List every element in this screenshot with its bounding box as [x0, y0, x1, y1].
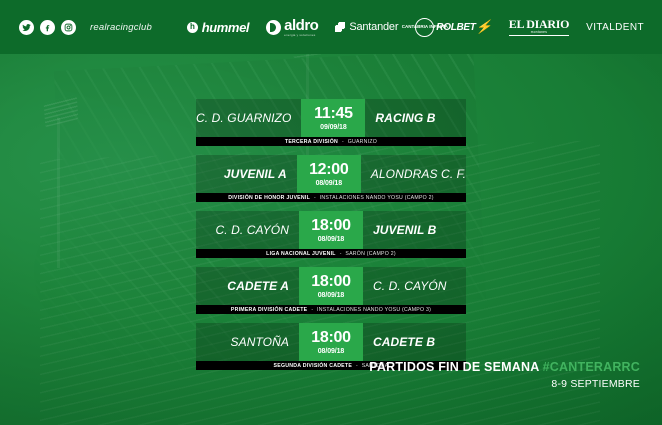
home-team-name: C. D. CAYÓN: [196, 211, 299, 249]
santander-flame-icon: [335, 22, 345, 32]
match-venue: INSTALACIONES NANDO YOSU (CAMPO 2): [320, 195, 434, 201]
instagram-icon[interactable]: [61, 20, 76, 35]
match-row: JUVENIL A 12:00 08/09/18 ALONDRAS C. F. …: [196, 155, 466, 202]
match-teams-row: JUVENIL A 12:00 08/09/18 ALONDRAS C. F.: [196, 155, 466, 193]
match-separator: -: [311, 307, 313, 313]
home-team-name: CADETE A: [196, 267, 299, 305]
sponsor-logo-vitaldent: VITALDENT: [586, 22, 644, 33]
twitter-icon[interactable]: [19, 20, 34, 35]
match-teams-row: C. D. CAYÓN 18:00 08/09/18 JUVENIL B: [196, 211, 466, 249]
match-teams-row: C. D. GUARNIZO 11:45 09/09/18 RACING B: [196, 99, 466, 137]
aldro-mark-icon: [266, 20, 281, 35]
match-date: 09/09/18: [320, 124, 346, 131]
match-competition: SEGUNDA DIVISIÓN CADETE: [274, 363, 352, 369]
sponsor-logo-aldro: aldro energia y soluciones: [266, 18, 318, 37]
sponsor-logo-el-diario: EL DIARIO montanes: [509, 18, 569, 37]
facebook-icon[interactable]: [40, 20, 55, 35]
match-separator: -: [356, 363, 358, 369]
match-teams-row: SANTOÑA 18:00 08/09/18 CADETE B: [196, 323, 466, 361]
match-date: 08/09/18: [318, 292, 344, 299]
sponsor-logos: h hummel aldro energia y soluciones Sant…: [187, 18, 644, 37]
match-time-block: 18:00 08/09/18: [299, 323, 363, 361]
away-team-name: RACING B: [365, 99, 466, 137]
match-separator: -: [340, 251, 342, 257]
footer-title: PARTIDOS FIN DE SEMANA: [369, 360, 539, 374]
match-info-strip: LIGA NACIONAL JUVENIL - SARÓN (CAMPO 2): [196, 249, 466, 258]
aldro-wordmark-label: aldro: [284, 18, 318, 33]
match-teams-row: CADETE A 18:00 08/09/18 C. D. CAYÓN: [196, 267, 466, 305]
match-competition: DIVISIÓN DE HONOR JUVENIL: [228, 195, 310, 201]
away-team-name: CADETE B: [363, 323, 466, 361]
sponsor-logo-cantabria-rolbet: CANTABRIA INFINITA ROLBET ⚡: [415, 18, 492, 37]
match-date: 08/09/18: [318, 348, 344, 355]
match-time-block: 18:00 08/09/18: [299, 267, 363, 305]
el-diario-tagline: montanes: [531, 31, 547, 34]
match-time-block: 12:00 08/09/18: [297, 155, 361, 193]
match-separator: -: [342, 139, 344, 145]
sponsor-header-bar: realracingclub h hummel aldro energia y …: [0, 0, 662, 54]
match-info-strip: DIVISIÓN DE HONOR JUVENIL - INSTALACIONE…: [196, 193, 466, 202]
match-info-strip: PRIMERA DIVISIÓN CADETE - INSTALACIONES …: [196, 305, 466, 314]
match-row: CADETE A 18:00 08/09/18 C. D. CAYÓN PRIM…: [196, 267, 466, 314]
away-team-name: JUVENIL B: [363, 211, 466, 249]
match-kickoff-time: 18:00: [311, 330, 350, 346]
cantabria-badge-icon: CANTABRIA INFINITA: [415, 18, 434, 37]
match-kickoff-time: 18:00: [311, 218, 350, 234]
el-diario-wordmark: EL DIARIO: [509, 18, 569, 30]
match-venue: SARÓN (CAMPO 2): [345, 251, 395, 257]
el-diario-underline: [509, 35, 569, 36]
sponsor-logo-hummel: h hummel: [187, 20, 249, 35]
away-team-name: C. D. CAYÓN: [363, 267, 466, 305]
match-kickoff-time: 12:00: [309, 162, 348, 178]
social-links: realracingclub: [19, 20, 152, 35]
hummel-wordmark: hummel: [202, 20, 249, 35]
santander-wordmark: Santander: [349, 21, 398, 33]
footer-hashtag: #CANTERARRC: [543, 360, 640, 374]
match-competition: TERCERA DIVISIÓN: [285, 139, 338, 145]
sponsor-logo-santander: Santander: [335, 21, 398, 33]
matchday-poster: realracingclub h hummel aldro energia y …: [0, 0, 662, 425]
home-team-name: SANTOÑA: [196, 323, 299, 361]
home-team-name: C. D. GUARNIZO: [196, 99, 301, 137]
match-competition: LIGA NACIONAL JUVENIL: [266, 251, 336, 257]
match-time-block: 18:00 08/09/18: [299, 211, 363, 249]
match-row: C. D. GUARNIZO 11:45 09/09/18 RACING B T…: [196, 99, 466, 146]
aldro-wordmark: aldro energia y soluciones: [284, 18, 318, 37]
footer-block: PARTIDOS FIN DE SEMANA #CANTERARRC 8-9 S…: [369, 360, 640, 391]
match-info-strip: TERCERA DIVISIÓN - GUARNIZO: [196, 137, 466, 146]
rolbet-flash-icon: ⚡: [476, 19, 492, 35]
social-handle-label: realracingclub: [90, 22, 152, 33]
match-venue: INSTALACIONES NANDO YOSU (CAMPO 3): [317, 307, 431, 313]
footer-title-line: PARTIDOS FIN DE SEMANA #CANTERARRC: [369, 360, 640, 376]
away-team-name: ALONDRAS C. F.: [361, 155, 466, 193]
home-team-name: JUVENIL A: [196, 155, 297, 193]
aldro-tagline: energia y soluciones: [284, 34, 318, 37]
match-separator: -: [314, 195, 316, 201]
match-venue: GUARNIZO: [348, 139, 377, 145]
match-kickoff-time: 11:45: [314, 106, 353, 122]
footer-date-range: 8-9 SEPTIEMBRE: [369, 378, 640, 391]
match-row: C. D. CAYÓN 18:00 08/09/18 JUVENIL B LIG…: [196, 211, 466, 258]
match-time-block: 11:45 09/09/18: [301, 99, 365, 137]
match-list: C. D. GUARNIZO 11:45 09/09/18 RACING B T…: [196, 99, 466, 379]
match-date: 08/09/18: [318, 236, 344, 243]
vitaldent-wordmark: VITALDENT: [586, 22, 644, 33]
rolbet-wordmark: ROLBET: [436, 22, 475, 33]
hummel-mark-icon: h: [187, 22, 198, 33]
match-kickoff-time: 18:00: [311, 274, 350, 290]
match-date: 08/09/18: [316, 180, 342, 187]
match-competition: PRIMERA DIVISIÓN CADETE: [231, 307, 307, 313]
